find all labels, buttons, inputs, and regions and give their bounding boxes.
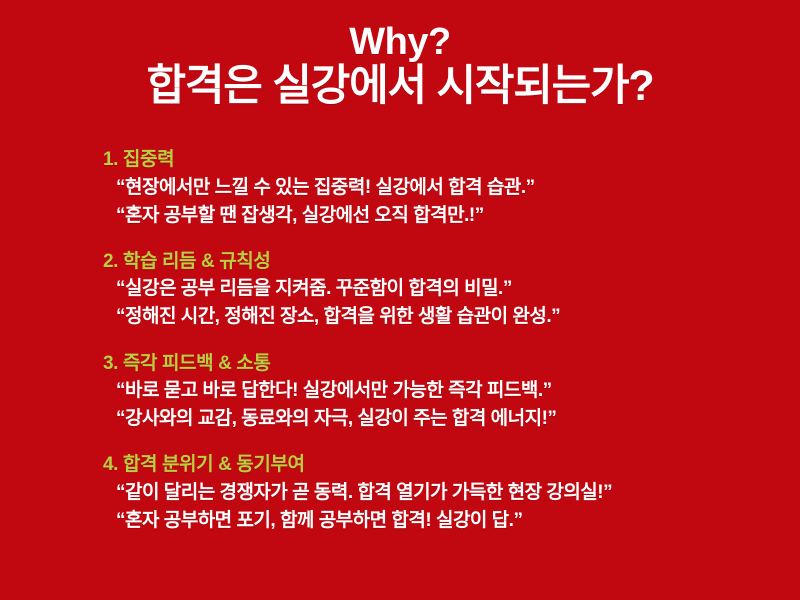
section-1-quote-2: “혼자 공부할 땐 잡생각, 실강에선 오직 합격만.!”	[116, 202, 800, 230]
section-3: 3. 즉각 피드백 & 소통 “바로 묻고 바로 답한다! 실강에서만 가능한 …	[0, 350, 800, 434]
title-line-question: 합격은 실강에서 시작되는가?	[0, 63, 800, 109]
section-2-quote-1: “실강은 공부 리듬을 지켜줌. 꾸준함이 합격의 비밀.”	[116, 275, 800, 303]
section-1-quote-1: “현장에서만 느낄 수 있는 집중력! 실강에서 합격 습관.”	[116, 174, 800, 202]
section-2-quotes: “실강은 공부 리듬을 지켜줌. 꾸준함이 합격의 비밀.” “정해진 시간, …	[103, 275, 800, 331]
section-1: 1. 집중력 “현장에서만 느낄 수 있는 집중력! 실강에서 합격 습관.” …	[0, 146, 800, 230]
section-1-heading: 1. 집중력	[103, 146, 800, 174]
section-4-quotes: “같이 달리는 경쟁자가 곧 동력. 합격 열기가 가득한 현장 강의실!” “…	[103, 479, 800, 535]
section-2-quote-2: “정해진 시간, 정해진 장소, 합격을 위한 생활 습관이 완성.”	[116, 303, 800, 331]
section-3-quotes: “바로 묻고 바로 답한다! 실강에서만 가능한 즉각 피드백.” “강사와의 …	[103, 377, 800, 433]
section-2: 2. 학습 리듬 & 규칙성 “실강은 공부 리듬을 지켜줌. 꾸준함이 합격의…	[0, 248, 800, 332]
section-4-quote-2: “혼자 공부하면 포기, 함께 공부하면 합격! 실강이 답.”	[116, 507, 800, 535]
section-4-heading: 4. 합격 분위기 & 동기부여	[103, 451, 800, 479]
section-3-quote-1: “바로 묻고 바로 답한다! 실강에서만 가능한 즉각 피드백.”	[116, 377, 800, 405]
section-1-quotes: “현장에서만 느낄 수 있는 집중력! 실강에서 합격 습관.” “혼자 공부할…	[103, 174, 800, 230]
section-4-quote-1: “같이 달리는 경쟁자가 곧 동력. 합격 열기가 가득한 현장 강의실!”	[116, 479, 800, 507]
section-2-heading: 2. 학습 리듬 & 규칙성	[103, 248, 800, 276]
slide-canvas: Why? 합격은 실강에서 시작되는가? 1. 집중력 “현장에서만 느낄 수 …	[0, 0, 800, 600]
section-4: 4. 합격 분위기 & 동기부여 “같이 달리는 경쟁자가 곧 동력. 합격 열…	[0, 451, 800, 535]
section-3-heading: 3. 즉각 피드백 & 소통	[103, 350, 800, 378]
sections-list: 1. 집중력 “현장에서만 느낄 수 있는 집중력! 실강에서 합격 습관.” …	[0, 146, 800, 535]
section-3-quote-2: “강사와의 교감, 동료와의 자극, 실강이 주는 합격 에너지!”	[116, 405, 800, 433]
title-line-why: Why?	[0, 22, 800, 63]
slide-title: Why? 합격은 실강에서 시작되는가?	[0, 22, 800, 109]
